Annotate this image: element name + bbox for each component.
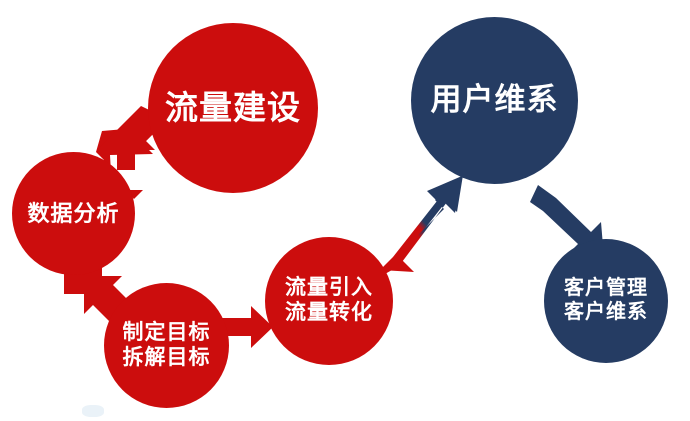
node-goal-setting-line-1: 制定目标 [123, 321, 211, 346]
node-traffic-convert[interactable]: 流量引入 流量转化 [265, 237, 393, 365]
node-user-retention[interactable]: 用户维系 [411, 17, 578, 184]
node-traffic-build-line-1: 流量建设 [165, 89, 301, 128]
node-traffic-build[interactable]: 流量建设 [148, 23, 318, 193]
arrow-traffic-convert-to-user-retention [371, 175, 463, 282]
diagram-canvas: 流量建设 用户维系 数据分析 制定目标 拆解目标 流量引入 流量转化 客户管理 … [0, 0, 690, 421]
node-data-analysis-line-1: 数据分析 [27, 201, 119, 227]
node-customer-mgmt-line-1: 客户管理 [564, 277, 648, 301]
node-customer-mgmt[interactable]: 客户管理 客户维系 [544, 239, 668, 363]
node-traffic-convert-line-1: 流量引入 [285, 276, 373, 301]
node-user-retention-line-1: 用户维系 [431, 82, 559, 119]
watermark-artifact [82, 405, 104, 417]
node-traffic-convert-line-2: 流量转化 [285, 301, 373, 326]
node-customer-mgmt-line-2: 客户维系 [564, 301, 648, 325]
node-goal-setting[interactable]: 制定目标 拆解目标 [104, 283, 229, 408]
node-goal-setting-line-2: 拆解目标 [123, 346, 211, 371]
node-data-analysis[interactable]: 数据分析 [12, 152, 135, 275]
